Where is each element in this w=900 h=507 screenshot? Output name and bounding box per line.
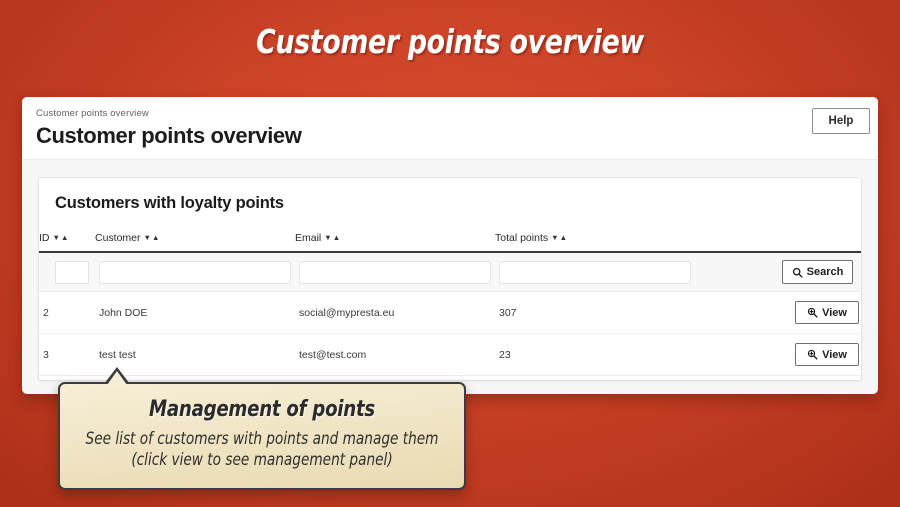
- table-header-row: ID▼▲ Customer▼▲ Email▼▲ Total points▼▲: [39, 232, 862, 252]
- cell-total-points: 23: [495, 334, 695, 376]
- page-title: Customer points overview: [36, 123, 301, 149]
- sort-desc-icon[interactable]: ▼: [551, 234, 558, 242]
- cell-actions: View: [695, 292, 862, 334]
- table-row[interactable]: 2 John DOE social@mypresta.eu 307: [39, 292, 862, 334]
- cell-total-points: 307: [495, 292, 695, 334]
- cell-email: social@mypresta.eu: [295, 292, 495, 334]
- filter-input-id[interactable]: [55, 261, 89, 284]
- admin-panel: Customer points overview Customer points…: [22, 97, 878, 394]
- table-head: ID▼▲ Customer▼▲ Email▼▲ Total points▼▲: [39, 232, 862, 252]
- callout-tooltip: Management of points See list of custome…: [58, 382, 466, 490]
- card-title: Customers with loyalty points: [39, 178, 861, 213]
- column-header-email[interactable]: Email▼▲: [295, 232, 495, 252]
- filter-input-total-points[interactable]: [499, 261, 691, 284]
- banner-title: Customer points overview: [45, 22, 855, 61]
- filter-cell-email: [295, 252, 495, 292]
- table-row[interactable]: 3 test test test@test.com 23: [39, 334, 862, 376]
- zoom-in-icon: [807, 349, 818, 360]
- cell-customer: John DOE: [95, 292, 295, 334]
- filter-cell-id: [39, 252, 95, 292]
- sort-desc-icon[interactable]: ▼: [324, 234, 331, 242]
- search-button-label: Search: [807, 266, 844, 278]
- view-button-label: View: [822, 307, 847, 319]
- view-button[interactable]: View: [795, 343, 859, 366]
- help-button[interactable]: Help: [812, 108, 870, 134]
- filter-cell-actions: Search: [695, 252, 862, 292]
- column-header-total-points-label: Total points: [495, 232, 548, 244]
- column-header-customer-label: Customer: [95, 232, 141, 244]
- column-header-id[interactable]: ID▼▲: [39, 232, 95, 252]
- content-area: Customers with loyalty points ID▼▲: [22, 160, 878, 381]
- sort-asc-icon[interactable]: ▲: [61, 234, 68, 242]
- filter-input-email[interactable]: [299, 261, 491, 284]
- callout-heading: Management of points: [76, 384, 448, 422]
- cell-actions: View: [695, 334, 862, 376]
- filter-cell-customer: [95, 252, 295, 292]
- cell-id: 2: [39, 292, 95, 334]
- cell-id: 3: [39, 334, 95, 376]
- table-body: Search 2 John DOE social@mypresta.eu 307: [39, 252, 862, 376]
- customers-list-card: Customers with loyalty points ID▼▲: [38, 177, 862, 381]
- view-button-label: View: [822, 349, 847, 361]
- sort-asc-icon[interactable]: ▲: [333, 234, 340, 242]
- panel-header: Customer points overview Customer points…: [22, 97, 878, 160]
- zoom-in-icon: [807, 307, 818, 318]
- breadcrumb: Customer points overview: [36, 108, 149, 119]
- callout-line-2: (click view to see management panel): [76, 449, 448, 470]
- search-icon: [792, 267, 803, 278]
- callout-pointer-fill: [107, 371, 127, 385]
- view-button[interactable]: View: [795, 301, 859, 324]
- column-header-id-label: ID: [39, 232, 50, 244]
- cell-email: test@test.com: [295, 334, 495, 376]
- sort-desc-icon[interactable]: ▼: [144, 234, 151, 242]
- column-header-email-label: Email: [295, 232, 321, 244]
- column-header-actions: [695, 232, 862, 252]
- filter-row: Search: [39, 252, 862, 292]
- filter-cell-total-points: [495, 252, 695, 292]
- search-button[interactable]: Search: [782, 260, 853, 284]
- callout-line-1: See list of customers with points and ma…: [76, 428, 448, 449]
- filter-input-customer[interactable]: [99, 261, 291, 284]
- column-header-total-points[interactable]: Total points▼▲: [495, 232, 695, 252]
- column-header-customer[interactable]: Customer▼▲: [95, 232, 295, 252]
- customer-points-table: ID▼▲ Customer▼▲ Email▼▲ Total points▼▲: [39, 232, 862, 376]
- sort-asc-icon[interactable]: ▲: [152, 234, 159, 242]
- sort-desc-icon[interactable]: ▼: [53, 234, 60, 242]
- help-button-label: Help: [829, 115, 854, 127]
- sort-asc-icon[interactable]: ▲: [560, 234, 567, 242]
